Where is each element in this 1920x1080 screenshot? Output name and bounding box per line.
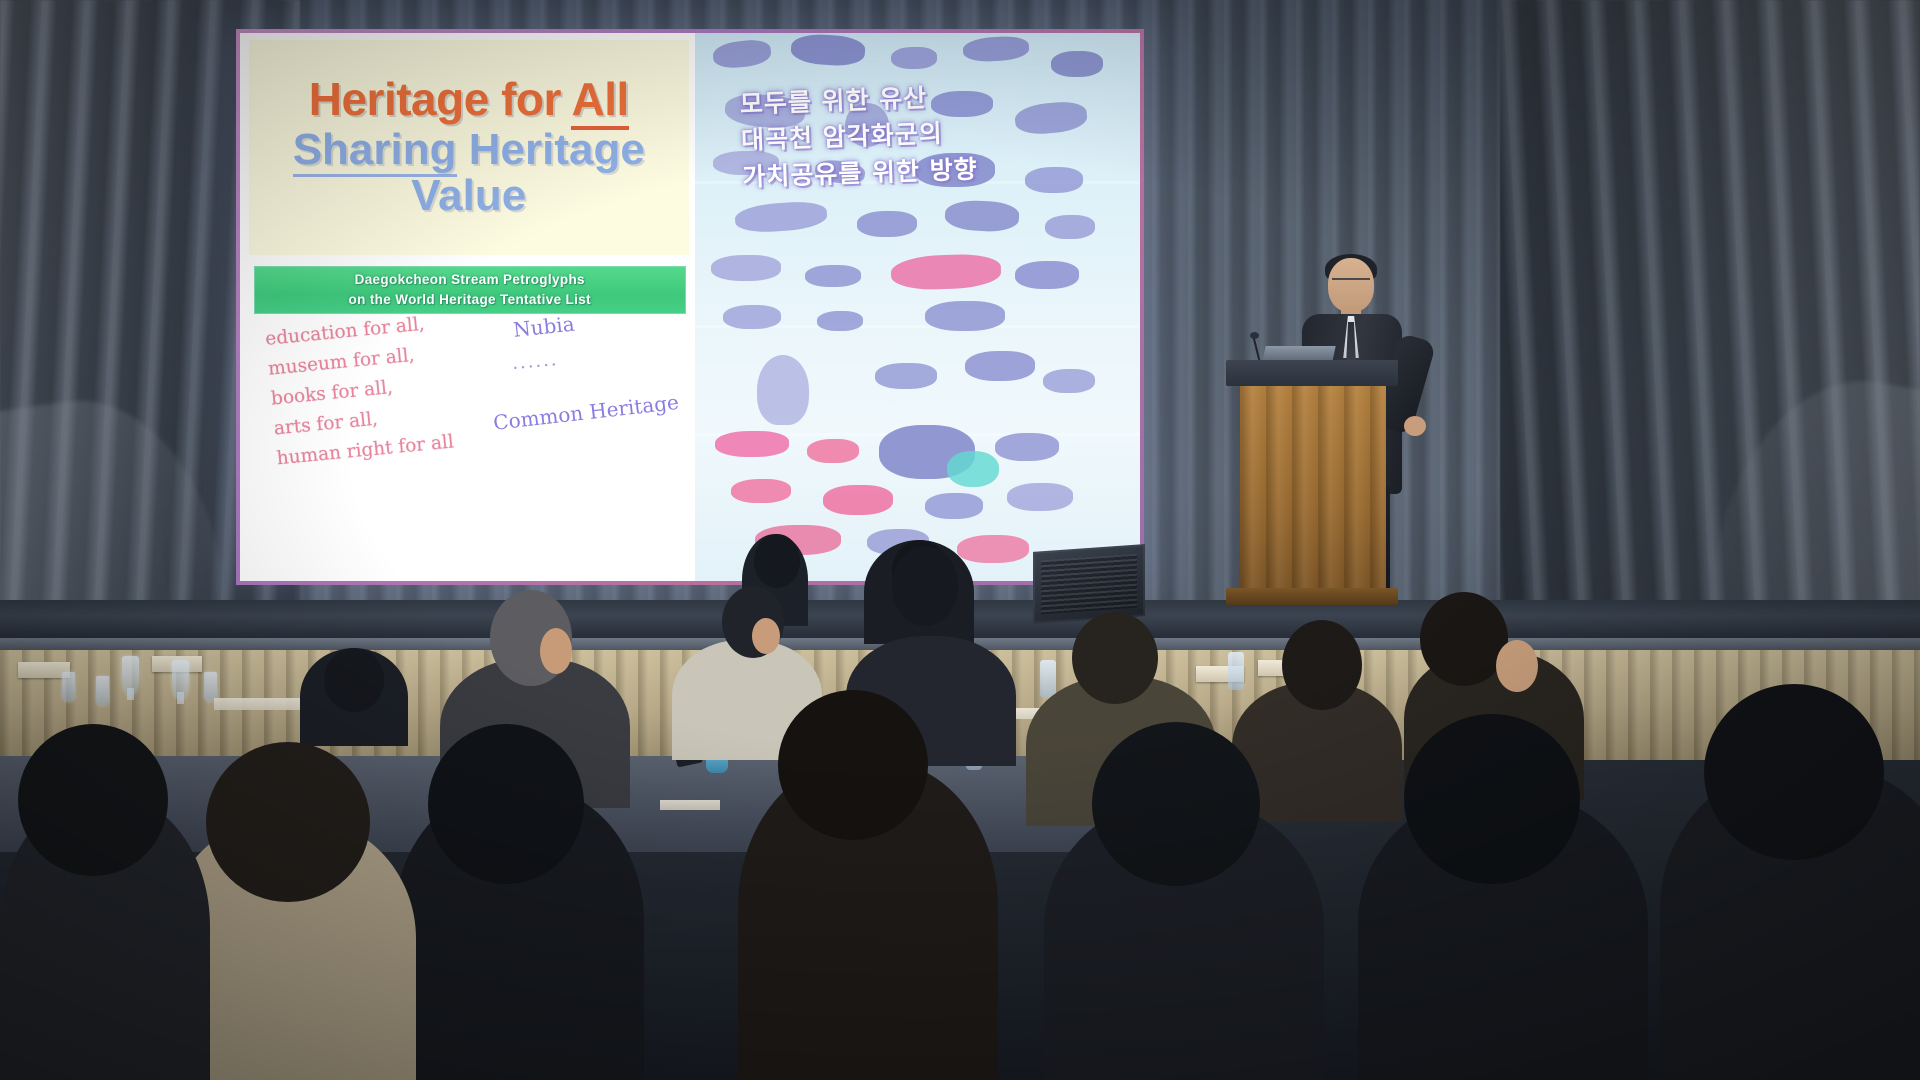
table-document xyxy=(660,800,720,810)
projection-screen: Heritage for All Sharing Heritage Value … xyxy=(236,29,1144,585)
petroglyph-figure xyxy=(731,479,791,503)
petroglyph-figure xyxy=(1043,369,1095,393)
petroglyph-figure xyxy=(875,363,937,389)
slide-note-ellipsis: ...... xyxy=(511,349,559,374)
petroglyph-figure xyxy=(995,433,1059,461)
wooden-lectern xyxy=(1226,360,1398,615)
lectern-body xyxy=(1240,386,1386,591)
petroglyph-figure xyxy=(890,253,1001,291)
petroglyph-figure xyxy=(715,431,789,457)
petroglyph-figure xyxy=(1051,51,1103,77)
petroglyph-figure xyxy=(823,485,893,515)
petroglyph-figure xyxy=(757,355,809,425)
petroglyph-figure xyxy=(891,47,937,69)
audience-head xyxy=(754,534,800,588)
audience-head xyxy=(892,546,958,626)
audience-head xyxy=(1282,620,1362,710)
slide-korean-text: 모두를 위한 유산 대곡천 암각화군의 가치공유를 위한 방향 xyxy=(739,75,1073,195)
petroglyph-figure xyxy=(817,311,863,331)
petroglyph-figure xyxy=(925,301,1005,331)
petroglyph-figure xyxy=(790,33,866,68)
petroglyph-figure xyxy=(807,439,859,463)
audience-head xyxy=(206,742,370,902)
audience-head xyxy=(778,690,928,840)
audience-hand xyxy=(1496,640,1538,692)
projected-slide: Heritage for All Sharing Heritage Value … xyxy=(240,33,1140,581)
petroglyph-figure xyxy=(1007,483,1073,511)
slide-right-panel: 모두를 위한 유산 대곡천 암각화군의 가치공유를 위한 방향 xyxy=(695,33,1141,581)
audience-face xyxy=(752,618,780,654)
water-goblet xyxy=(172,660,189,700)
petroglyph-figure xyxy=(711,38,771,70)
slide-note-nubia: Nubia xyxy=(512,312,576,342)
microphone-icon xyxy=(1250,332,1259,339)
banner-line-1: Daegokcheon Stream Petroglyphs xyxy=(355,270,585,290)
audience-head xyxy=(1420,592,1508,686)
presentation-scene: Heritage for All Sharing Heritage Value … xyxy=(0,0,1920,1080)
petroglyph-figure xyxy=(1045,215,1095,239)
petroglyph-figure xyxy=(857,211,917,237)
slide-title-main: Heritage for All xyxy=(309,76,629,122)
slide-title-sub-underlined: Sharing xyxy=(293,125,457,177)
petroglyph-figure xyxy=(962,35,1029,62)
petroglyph-figure xyxy=(947,451,999,487)
petroglyph-figure xyxy=(925,493,983,519)
table-document xyxy=(214,698,310,710)
water-glass xyxy=(96,676,109,706)
petroglyph-figure xyxy=(944,199,1019,233)
lectern-base xyxy=(1226,588,1398,605)
stage-floor-monitor-speaker xyxy=(1033,544,1145,624)
water-goblet xyxy=(122,656,139,696)
water-glass xyxy=(62,672,75,702)
water-bottle xyxy=(1040,660,1056,698)
slide-left-panel: Heritage for All Sharing Heritage Value … xyxy=(240,33,695,581)
slide-title-main-underlined: All xyxy=(571,73,628,130)
audience-face xyxy=(540,628,572,674)
slide-title-line3: Value xyxy=(411,171,526,220)
petroglyph-figure xyxy=(734,200,828,234)
slide-title-sub-rest: Heritage xyxy=(457,125,645,174)
petroglyph-figure xyxy=(805,265,861,287)
lectern-top xyxy=(1226,360,1398,386)
petroglyph-photo: 모두를 위한 유산 대곡천 암각화군의 가치공유를 위한 방향 xyxy=(695,33,1141,581)
audience-head xyxy=(428,724,584,884)
audience-head xyxy=(1092,722,1260,886)
slide-note-common-heritage: Common Heritage xyxy=(492,390,680,435)
presenter-hand xyxy=(1404,416,1426,436)
petroglyph-figure xyxy=(957,535,1029,563)
water-bottle xyxy=(1228,652,1244,690)
slide-title-main-text: Heritage for xyxy=(309,73,572,125)
audience-head xyxy=(1072,612,1158,704)
audience-head xyxy=(18,724,168,876)
banner-line-2: on the World Heritage Tentative List xyxy=(349,290,591,310)
slide-title-block: Heritage for All Sharing Heritage Value xyxy=(249,40,689,255)
audience-head xyxy=(324,648,384,712)
slide-title-sub: Sharing Heritage Value xyxy=(293,127,645,219)
audience-head xyxy=(1404,714,1580,884)
petroglyph-figure xyxy=(711,255,781,281)
audience-head xyxy=(1704,684,1884,860)
petroglyph-figure xyxy=(723,305,781,329)
slide-green-banner: Daegokcheon Stream Petroglyphs on the Wo… xyxy=(254,266,686,314)
petroglyph-figure xyxy=(1015,261,1079,289)
slide-handwritten-list-left: education for all, museum for all, books… xyxy=(264,308,455,474)
petroglyph-figure xyxy=(965,351,1035,381)
presenter-glasses xyxy=(1332,278,1370,288)
speaker-grille xyxy=(1041,554,1137,615)
screen-frame: Heritage for All Sharing Heritage Value … xyxy=(236,29,1144,585)
